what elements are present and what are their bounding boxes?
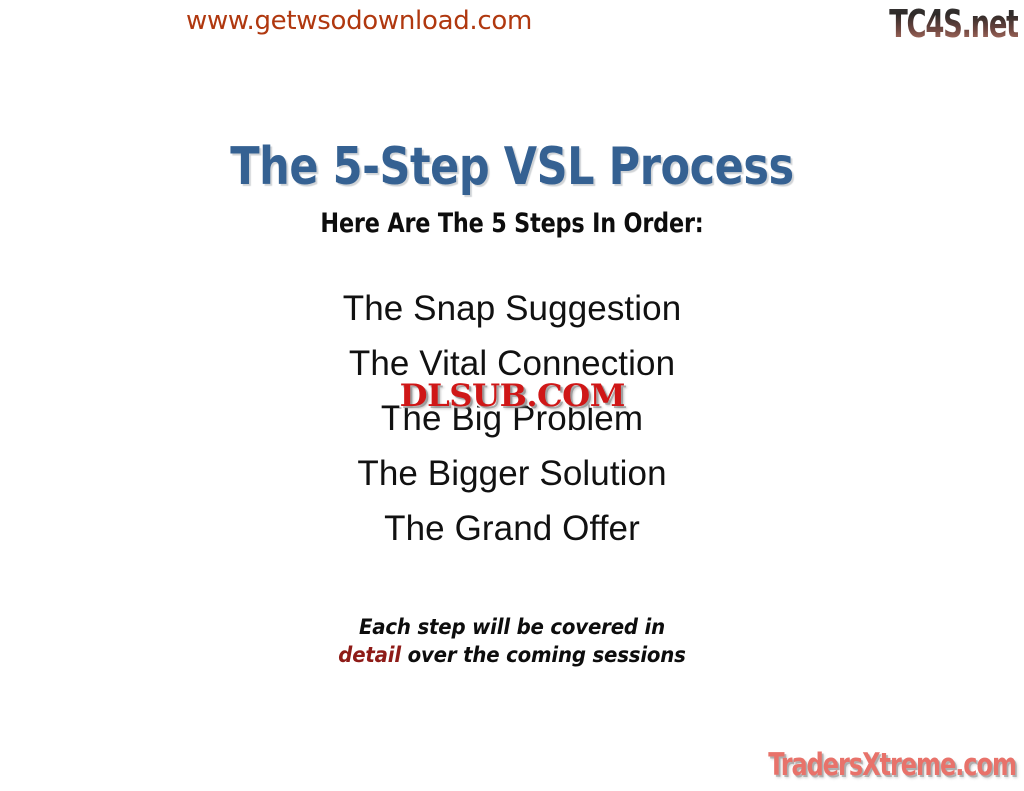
tradersxtreme-brand: TradersXtreme.com [768, 747, 1016, 783]
footnote-line-2-rest: over the coming sessions [401, 643, 686, 667]
list-item: The Snap Suggestion [0, 288, 1024, 343]
page-title: The 5-Step VSL Process [41, 137, 983, 197]
header-source-url: www.getwsodownload.com [0, 6, 1024, 36]
tc4s-logo: TC4S.net [889, 2, 1018, 46]
list-item: The Big Problem [0, 398, 1024, 453]
footnote: Each step will be covered in detail over… [31, 613, 994, 669]
list-item: The Bigger Solution [0, 453, 1024, 508]
list-item: The Grand Offer [0, 508, 1024, 563]
footnote-line-2: detail over the coming sessions [31, 641, 994, 669]
slide-canvas: www.getwsodownload.com TC4S.net The 5-St… [0, 0, 1024, 791]
footnote-line-1: Each step will be covered in [31, 613, 994, 641]
footnote-accent-word: detail [338, 643, 401, 667]
page-subtitle: Here Are The 5 Steps In Order: [41, 208, 983, 239]
steps-list: The Snap Suggestion The Vital Connection… [0, 288, 1024, 563]
list-item: The Vital Connection [0, 343, 1024, 398]
